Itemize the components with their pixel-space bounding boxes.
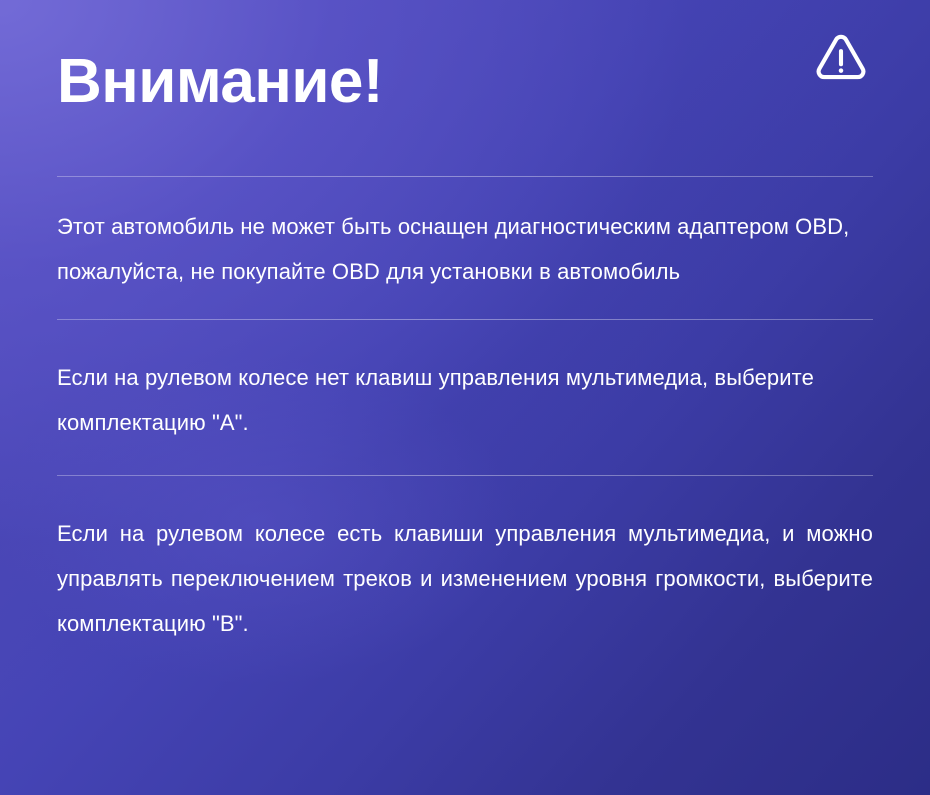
warning-notice-card: Внимание! Этот автомобиль не может быть … [0, 0, 930, 795]
page-title: Внимание! [57, 51, 383, 113]
notice-section-trim-a: Если на рулевом колесе нет клавиш управл… [57, 320, 873, 475]
card-content: Внимание! Этот автомобиль не может быть … [0, 0, 930, 681]
notice-section-trim-b: Если на рулевом колесе есть клавиши упра… [57, 476, 873, 681]
notice-text-obd: Этот автомобиль не может быть оснащен ди… [57, 204, 873, 294]
notice-text-trim-a: Если на рулевом колесе нет клавиш управл… [57, 355, 873, 445]
notice-text-trim-b: Если на рулевом колесе есть клавиши упра… [57, 511, 873, 646]
warning-triangle-icon [812, 31, 870, 89]
notice-section-obd: Этот автомобиль не может быть оснащен ди… [57, 177, 873, 319]
card-header: Внимание! [57, 0, 873, 176]
